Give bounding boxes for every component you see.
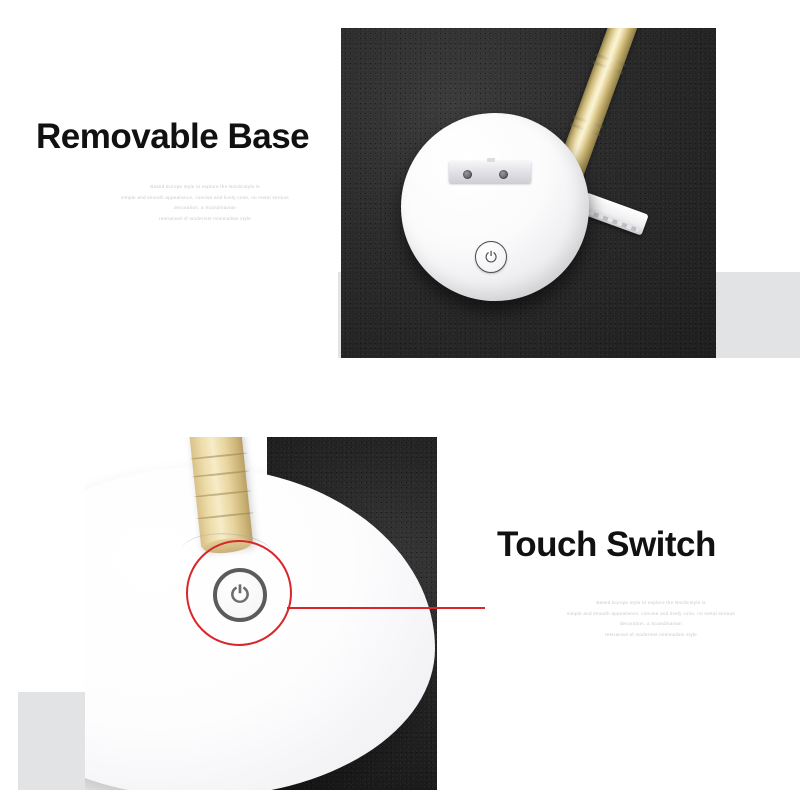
connector-notch: [487, 158, 495, 162]
removable-base-disc: ⏻: [401, 113, 589, 301]
microcopy-line: decoration, a Scandinavian: [60, 203, 350, 214]
infographic-stage: Removable Base Based Europe style to exp…: [0, 0, 800, 800]
connector-plate: [449, 161, 531, 183]
microcopy-line: restrained of modernist minimalism style: [60, 214, 350, 225]
microcopy-line: Based Europe style to explore the Nordic…: [60, 182, 350, 193]
microcopy-line: Based Europe style to explore the Nordic…: [505, 598, 797, 609]
microcopy-touch-switch: Based Europe style to explore the Nordic…: [505, 598, 797, 640]
microcopy-line: restrained of modernist minimalism style: [505, 630, 797, 641]
microcopy-removable-base: Based Europe style to explore the Nordic…: [60, 182, 350, 224]
accent-block-bottom-left: [18, 692, 92, 790]
heading-touch-switch: Touch Switch: [497, 525, 716, 565]
microcopy-line: decoration, a Scandinavian: [505, 619, 797, 630]
microcopy-line: simple and smooth appearance, concise an…: [505, 609, 797, 620]
power-button-icon: ⏻: [475, 241, 507, 273]
product-photo-removable-base: ⏻: [341, 28, 716, 358]
power-glyph: ⏻: [485, 250, 497, 265]
screw-right: [499, 170, 508, 179]
screw-left: [463, 170, 472, 179]
heading-removable-base: Removable Base: [36, 117, 309, 157]
annotation-leader-line: [287, 607, 485, 609]
microcopy-line: simple and smooth appearance, concise an…: [60, 193, 350, 204]
annotation-circle: [186, 540, 292, 646]
